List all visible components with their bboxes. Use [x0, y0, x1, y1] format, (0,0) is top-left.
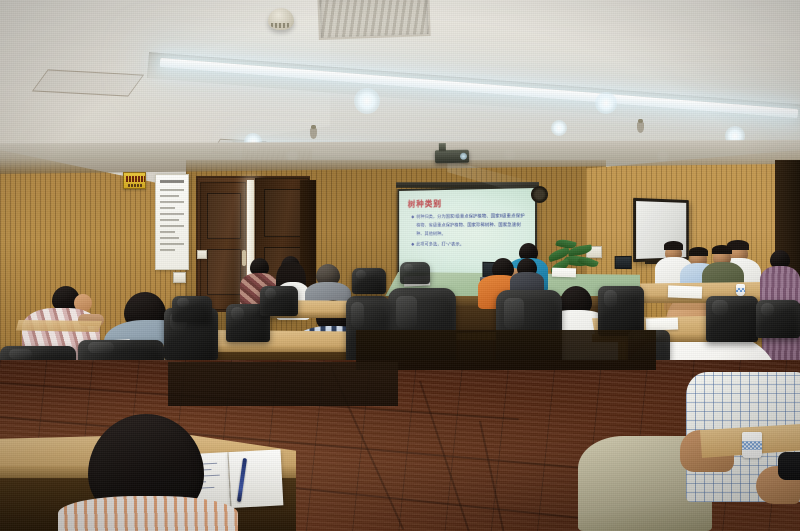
- paper-cup[interactable]: [736, 284, 745, 296]
- wall-notice-poster: [155, 174, 189, 270]
- laptop[interactable]: [615, 256, 632, 269]
- slide-bullet-text: 此项可多选，打“√”表示。: [416, 241, 464, 250]
- training-table: [16, 320, 102, 332]
- safety-notice-sign: [123, 172, 146, 189]
- slide-title: 树种类别: [408, 198, 442, 210]
- recessed-downlight: [595, 92, 617, 114]
- document-paper[interactable]: [646, 317, 678, 330]
- person-torso-foreground: [58, 496, 238, 531]
- air-conditioner-vent: [317, 0, 431, 40]
- slide-bullet-marker: ◆: [411, 213, 414, 240]
- slide-bullet-text: 树种归类，分为国家Ⅰ级重点保护植物、国家Ⅱ级重点保护植物、省级重点保护植物、国家…: [416, 212, 525, 239]
- document-paper[interactable]: [552, 268, 576, 278]
- smoke-detector: [268, 8, 294, 30]
- person-hair: [664, 241, 683, 250]
- door-handle[interactable]: [242, 250, 246, 266]
- chair[interactable]: [706, 296, 758, 342]
- table-shadow-band: [168, 362, 398, 406]
- person-torso-dark: [778, 452, 800, 480]
- projector-lens: [460, 153, 467, 160]
- sprinkler-head: [637, 122, 644, 133]
- recessed-downlight: [551, 120, 567, 136]
- recessed-downlight: [354, 88, 380, 114]
- light-switch[interactable]: [197, 250, 207, 259]
- photo-scene: 树种类别 ◆树种归类，分为国家Ⅰ级重点保护植物、国家Ⅱ级重点保护植物、省级重点保…: [0, 0, 800, 531]
- person-hair: [689, 247, 708, 256]
- person-hair: [712, 245, 732, 254]
- wall-fan: [531, 186, 548, 203]
- paper-cup-foreground[interactable]: [742, 432, 762, 458]
- sprinkler-head: [310, 128, 317, 139]
- document-paper[interactable]: [668, 285, 702, 298]
- chair[interactable]: [400, 262, 430, 284]
- light-switch[interactable]: [173, 272, 186, 283]
- chair[interactable]: [260, 286, 298, 316]
- chair[interactable]: [756, 300, 800, 338]
- chair[interactable]: [598, 286, 644, 336]
- chair[interactable]: [352, 268, 386, 294]
- table-shadow-band: [356, 330, 656, 370]
- chair[interactable]: [172, 296, 212, 322]
- slide-body: ◆树种归类，分为国家Ⅰ级重点保护植物、国家Ⅱ级重点保护植物、省级重点保护植物、国…: [411, 212, 525, 252]
- ceiling-projector: [435, 150, 469, 164]
- slide-bullet-marker: ◆: [411, 241, 414, 251]
